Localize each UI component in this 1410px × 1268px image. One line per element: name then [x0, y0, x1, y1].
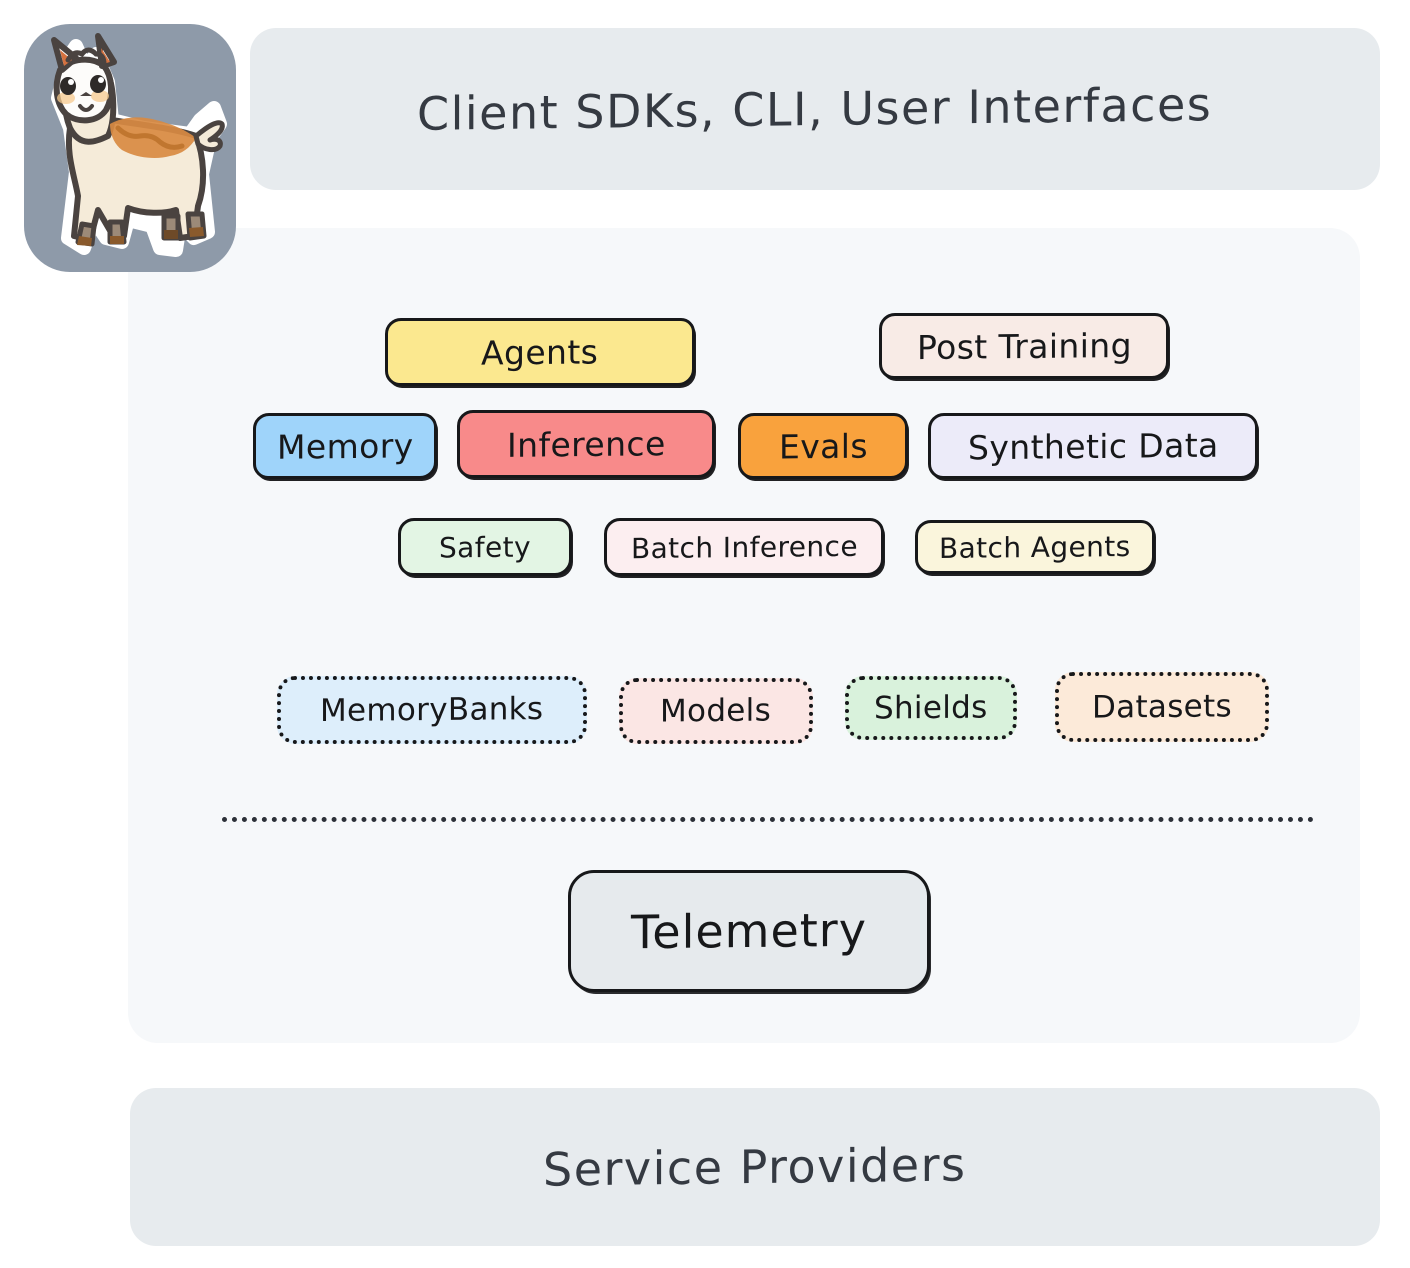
api-box-label: Safety	[439, 530, 531, 564]
api-box-label: Agents	[481, 332, 598, 372]
api-box-inference[interactable]: Inference	[457, 410, 715, 478]
api-box-batch-inference[interactable]: Batch Inference	[604, 518, 884, 576]
api-box-label: Batch Inference	[631, 529, 858, 564]
resource-box-label: Shields	[874, 690, 988, 727]
resource-box-label: MemoryBanks	[320, 691, 543, 729]
api-box-agents[interactable]: Agents	[385, 318, 695, 386]
api-box-evals[interactable]: Evals	[738, 413, 908, 479]
api-box-label: Memory	[277, 426, 414, 466]
api-box-synthetic-data[interactable]: Synthetic Data	[928, 413, 1258, 479]
resource-box-datasets[interactable]: Datasets	[1055, 672, 1269, 742]
api-box-label: Evals	[779, 426, 868, 466]
resource-box-models[interactable]: Models	[619, 678, 813, 744]
api-box-label: Post Training	[917, 325, 1132, 366]
llama-logo-tile	[24, 24, 236, 272]
resource-box-label: Datasets	[1092, 688, 1232, 725]
api-box-label: Inference	[507, 424, 666, 465]
api-box-batch-agents[interactable]: Batch Agents	[915, 520, 1155, 574]
telemetry-label: Telemetry	[631, 903, 867, 959]
resource-box-memorybanks[interactable]: MemoryBanks	[277, 676, 587, 744]
resource-box-label: Models	[660, 693, 771, 730]
resource-box-shields[interactable]: Shields	[845, 676, 1017, 740]
api-box-label: Synthetic Data	[968, 425, 1219, 467]
bottom-banner: Service Providers	[130, 1088, 1380, 1246]
bottom-banner-label: Service Providers	[543, 1137, 967, 1196]
top-banner: Client SDKs, CLI, User Interfaces	[250, 28, 1380, 190]
section-divider	[222, 817, 1314, 822]
api-box-post-training[interactable]: Post Training	[879, 313, 1169, 379]
api-box-label: Batch Agents	[939, 529, 1131, 564]
llama-logo-icon	[24, 24, 236, 272]
api-box-memory[interactable]: Memory	[253, 413, 437, 479]
api-box-safety[interactable]: Safety	[398, 518, 572, 576]
top-banner-label: Client SDKs, CLI, User Interfaces	[417, 77, 1212, 141]
telemetry-box[interactable]: Telemetry	[568, 870, 930, 992]
